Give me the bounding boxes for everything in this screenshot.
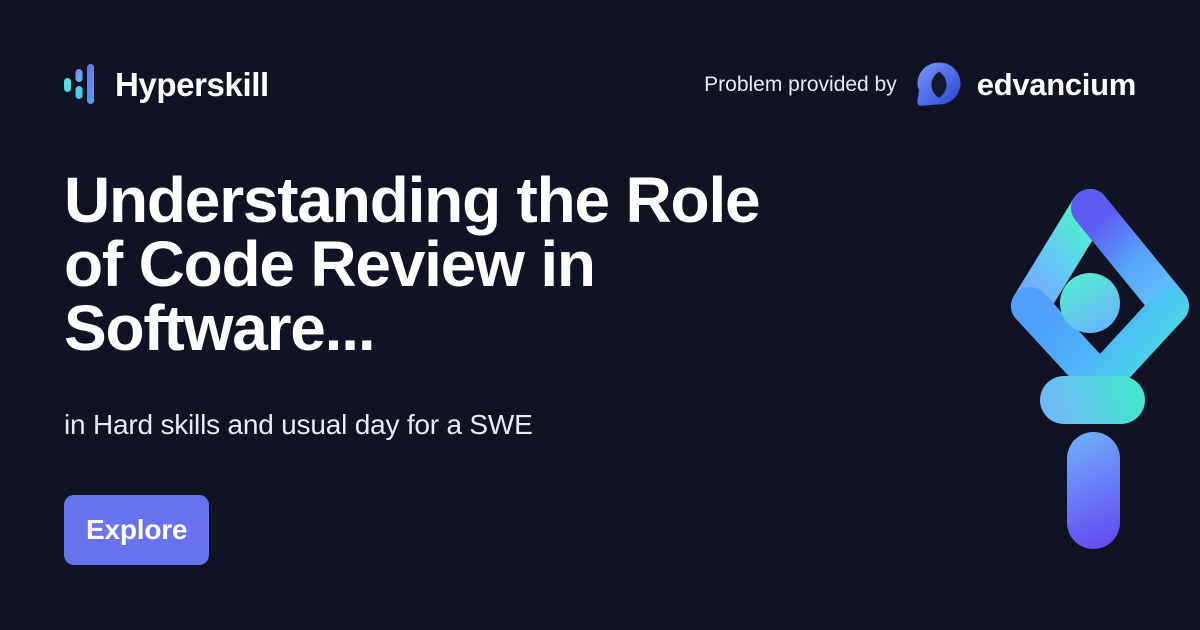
page-subtitle: in Hard skills and usual day for a SWE bbox=[64, 408, 854, 442]
edvancium-loop-icon bbox=[915, 60, 963, 108]
hyperskill-bars-icon bbox=[64, 64, 98, 104]
center-circle bbox=[1060, 273, 1120, 333]
vertical-pill bbox=[1067, 432, 1120, 549]
horizontal-pill bbox=[1040, 376, 1145, 424]
provider-label: Problem provided by bbox=[704, 74, 897, 95]
card-content: Understanding the Role of Code Review in… bbox=[64, 168, 854, 442]
explore-button[interactable]: Explore bbox=[64, 495, 209, 565]
hyperskill-wordmark: Hyperskill bbox=[115, 68, 269, 101]
hyperskill-brand[interactable]: Hyperskill bbox=[64, 55, 269, 113]
edvancium-wordmark: edvancium bbox=[977, 69, 1136, 100]
edvancium-brand[interactable]: edvancium bbox=[915, 60, 1136, 108]
edvancium-emblem bbox=[1000, 170, 1200, 570]
page-title: Understanding the Role of Code Review in… bbox=[64, 168, 824, 360]
card-header: Hyperskill Problem provided by bbox=[64, 55, 1136, 113]
provider-block: Problem provided by edvancium bbox=[704, 55, 1136, 113]
share-card: Hyperskill Problem provided by bbox=[0, 0, 1200, 630]
